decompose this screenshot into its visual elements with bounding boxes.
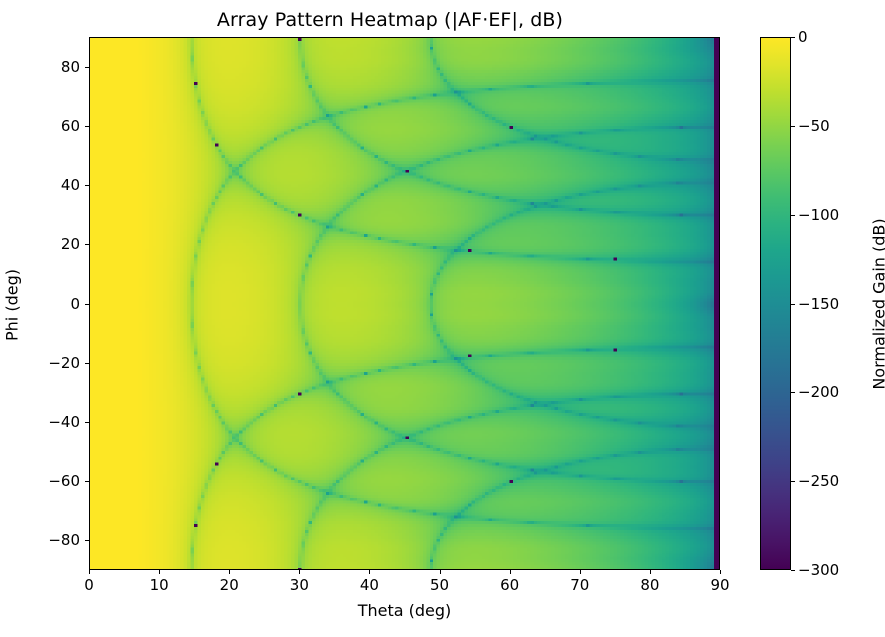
x-tick-label: 30 xyxy=(269,576,329,594)
colorbar-tick-mark xyxy=(791,215,795,216)
colorbar-label: Normalized Gain (dB) xyxy=(870,38,885,571)
y-tick-label: −20 xyxy=(18,354,80,372)
colorbar[interactable] xyxy=(760,37,791,570)
colorbar-tick-label: −250 xyxy=(798,472,839,490)
y-tick-label: −40 xyxy=(18,413,80,431)
colorbar-tick-label: −50 xyxy=(798,117,830,135)
colorbar-tick-mark xyxy=(791,570,795,571)
colorbar-tick-mark xyxy=(791,126,795,127)
x-tick-label: 10 xyxy=(129,576,189,594)
x-tick-mark xyxy=(89,570,90,574)
x-tick-mark xyxy=(720,570,721,574)
y-tick-label: 20 xyxy=(18,235,80,253)
x-tick-label: 20 xyxy=(199,576,259,594)
x-tick-mark xyxy=(229,570,230,574)
colorbar-tick-label: −100 xyxy=(798,206,839,224)
y-tick-label: 40 xyxy=(18,176,80,194)
y-tick-label: 80 xyxy=(18,58,80,76)
colorbar-tick-label: −150 xyxy=(798,295,839,313)
x-tick-label: 50 xyxy=(410,576,470,594)
x-tick-mark xyxy=(299,570,300,574)
x-tick-label: 40 xyxy=(339,576,399,594)
heatmap-plot-area[interactable] xyxy=(89,37,720,570)
y-tick-mark xyxy=(85,67,89,68)
y-tick-label: 0 xyxy=(18,295,80,313)
x-tick-mark xyxy=(650,570,651,574)
y-tick-mark xyxy=(85,185,89,186)
y-tick-mark xyxy=(85,244,89,245)
colorbar-tick-label: −300 xyxy=(798,561,839,579)
colorbar-tick-mark xyxy=(791,304,795,305)
x-tick-mark xyxy=(159,570,160,574)
x-tick-mark xyxy=(580,570,581,574)
y-tick-mark xyxy=(85,481,89,482)
y-tick-label: −80 xyxy=(18,531,80,549)
colorbar-tick-mark xyxy=(791,37,795,38)
y-tick-mark xyxy=(85,540,89,541)
colorbar-tick-mark xyxy=(791,481,795,482)
x-tick-label: 60 xyxy=(480,576,540,594)
x-axis-label: Theta (deg) xyxy=(89,601,720,621)
y-tick-label: −60 xyxy=(18,472,80,490)
colorbar-tick-mark xyxy=(791,392,795,393)
heatmap-image xyxy=(90,38,720,570)
x-tick-mark xyxy=(440,570,441,574)
colorbar-tick-label: 0 xyxy=(798,28,808,46)
x-tick-mark xyxy=(369,570,370,574)
x-tick-label: 90 xyxy=(690,576,750,594)
figure-canvas: Array Pattern Heatmap (|AF·EF|, dB) 0102… xyxy=(0,0,885,637)
x-tick-mark xyxy=(510,570,511,574)
y-tick-label: 60 xyxy=(18,117,80,135)
y-tick-mark xyxy=(85,126,89,127)
y-tick-mark xyxy=(85,363,89,364)
x-tick-label: 0 xyxy=(59,576,119,594)
y-tick-mark xyxy=(85,422,89,423)
y-tick-mark xyxy=(85,304,89,305)
page-title: Array Pattern Heatmap (|AF·EF|, dB) xyxy=(0,8,780,32)
y-axis-label: Phi (deg) xyxy=(3,39,23,572)
x-tick-label: 70 xyxy=(550,576,610,594)
colorbar-tick-label: −200 xyxy=(798,383,839,401)
colorbar-gradient xyxy=(761,38,790,569)
x-tick-label: 80 xyxy=(620,576,680,594)
